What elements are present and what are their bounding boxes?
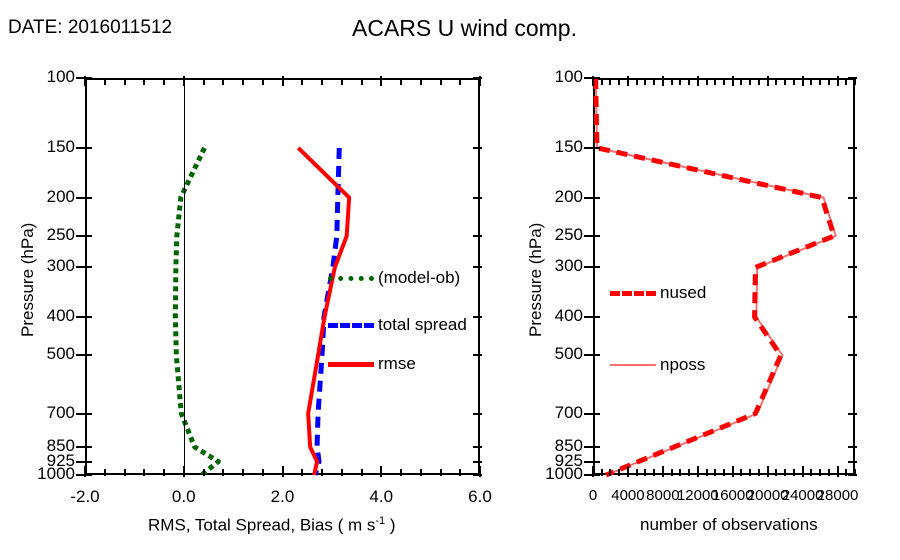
- left-xtick-minor-top: [242, 78, 244, 85]
- left-ytick-label: 700: [13, 403, 75, 423]
- left-xtick-minor: [361, 469, 363, 476]
- left-ytick-right: [473, 266, 482, 268]
- right-xtick-minor-top: [802, 78, 804, 85]
- left-xtick-label: -2.0: [59, 487, 111, 507]
- left-xtick-minor: [124, 469, 126, 476]
- right-xtick-minor-top: [723, 78, 725, 85]
- left-ytick-label: 200: [13, 187, 75, 207]
- right-xtick-minor-top: [732, 78, 734, 85]
- left-legend-swatch: [328, 362, 374, 367]
- left-xtick-label: 4.0: [355, 487, 407, 507]
- left-xtick-minor-top: [84, 78, 86, 85]
- left-legend-label: total spread: [378, 315, 467, 335]
- right-ytick-right: [848, 316, 857, 318]
- right-xtick-minor: [749, 469, 751, 476]
- right-ytick-label: 700: [521, 403, 583, 423]
- right-xtick-minor: [627, 469, 629, 476]
- right-xtick-minor: [732, 469, 734, 476]
- right-xtick-minor-top: [784, 78, 786, 85]
- left-xtick-minor-top: [341, 78, 343, 85]
- right-xtick-minor: [601, 469, 603, 476]
- right-xtick-minor-top: [749, 78, 751, 85]
- left-ytick-right: [473, 235, 482, 237]
- right-xtick-minor-top: [671, 78, 673, 85]
- right-ytick-inner: [593, 266, 600, 268]
- right-xtick-minor-top: [609, 78, 611, 85]
- right-xtick-minor-top: [662, 78, 664, 85]
- left-ytick: [76, 354, 85, 356]
- chart-page: DATE: 2016011512 ACARS U wind comp. Pres…: [0, 0, 900, 560]
- left-ytick-inner: [85, 197, 92, 199]
- right-xtick-minor-top: [697, 78, 699, 85]
- right-xtick-minor: [618, 469, 620, 476]
- left-xtick-minor-top: [361, 78, 363, 85]
- right-ytick-right: [848, 147, 857, 149]
- right-xtick-minor: [802, 469, 804, 476]
- right-ytick: [584, 266, 593, 268]
- right-xtick-minor-top: [828, 78, 830, 85]
- left-xtick-minor: [459, 469, 461, 476]
- left-xtick-minor: [440, 469, 442, 476]
- left-xtick-minor-top: [104, 78, 106, 85]
- left-legend-label: rmse: [378, 354, 416, 374]
- series-nposs: [596, 78, 836, 475]
- right-ytick-label: 250: [521, 225, 583, 245]
- right-xtick-minor-top: [618, 78, 620, 85]
- right-xtick-minor-top: [767, 78, 769, 85]
- left-xtick-minor-top: [143, 78, 145, 85]
- left-xtick-minor: [400, 469, 402, 476]
- right-xtick-minor-top: [758, 78, 760, 85]
- left-xtick-minor-top: [282, 78, 284, 85]
- left-ytick-right: [473, 446, 482, 448]
- right-xtick-minor-top: [810, 78, 812, 85]
- right-ytick: [584, 461, 593, 463]
- right-xtick-minor-top: [653, 78, 655, 85]
- left-zero-line: [184, 80, 185, 474]
- right-legend-item: nused: [610, 283, 706, 303]
- right-xtick-minor: [837, 469, 839, 476]
- right-ytick: [584, 446, 593, 448]
- right-ytick-inner: [593, 474, 600, 476]
- left-ytick: [76, 316, 85, 318]
- right-xtick-minor: [758, 469, 760, 476]
- left-xtick-minor: [341, 469, 343, 476]
- right-ytick-label: 1000: [521, 464, 583, 484]
- left-xtick-minor-top: [163, 78, 165, 85]
- right-ytick-right: [848, 197, 857, 199]
- right-legend-swatch: [610, 364, 656, 366]
- right-xtick-minor: [845, 469, 847, 476]
- right-xtick-minor: [688, 469, 690, 476]
- left-xtick-minor: [104, 469, 106, 476]
- right-ytick-inner: [593, 77, 600, 79]
- right-xtick-minor: [706, 469, 708, 476]
- right-xtick-minor: [653, 469, 655, 476]
- right-xtick-minor: [793, 469, 795, 476]
- right-ytick-inner: [593, 147, 600, 149]
- left-ytick-inner: [85, 266, 92, 268]
- right-xtick-minor: [723, 469, 725, 476]
- left-xtick-minor: [242, 469, 244, 476]
- right-ytick: [584, 413, 593, 415]
- right-ytick: [584, 197, 593, 199]
- right-xtick-minor-top: [644, 78, 646, 85]
- right-ytick: [584, 316, 593, 318]
- left-ytick: [76, 413, 85, 415]
- left-xtick-minor: [143, 469, 145, 476]
- right-ytick-inner: [593, 354, 600, 356]
- left-ytick-inner: [85, 461, 92, 463]
- right-xtick-minor-top: [706, 78, 708, 85]
- right-ytick: [584, 235, 593, 237]
- right-xtick-minor-top: [592, 78, 594, 85]
- right-xtick-minor-top: [636, 78, 638, 85]
- right-xtick-minor: [854, 469, 856, 476]
- left-xtick-minor: [282, 469, 284, 476]
- left-xtick-minor-top: [262, 78, 264, 85]
- left-ytick-label: 400: [13, 306, 75, 326]
- left-xtick-minor-top: [400, 78, 402, 85]
- left-legend-item: total spread: [328, 315, 467, 335]
- left-ytick-inner: [85, 316, 92, 318]
- right-xtick-minor-top: [819, 78, 821, 85]
- right-legend-label: nused: [660, 283, 706, 303]
- right-xtick-minor: [636, 469, 638, 476]
- right-legend-label: nposs: [660, 355, 705, 375]
- right-xtick-minor-top: [714, 78, 716, 85]
- series-nused: [596, 78, 834, 475]
- left-ytick-label: 250: [13, 225, 75, 245]
- left-ytick-inner: [85, 354, 92, 356]
- left-ytick-label: 300: [13, 256, 75, 276]
- right-xtick-minor-top: [688, 78, 690, 85]
- left-xtick-minor-top: [321, 78, 323, 85]
- left-ytick-right: [473, 197, 482, 199]
- right-xtick-minor: [697, 469, 699, 476]
- left-ytick-right: [473, 147, 482, 149]
- right-legend-item: nposs: [610, 355, 705, 375]
- right-xtick-minor-top: [837, 78, 839, 85]
- right-xtick-minor: [775, 469, 777, 476]
- left-xtick-minor-top: [420, 78, 422, 85]
- left-xtick-minor: [479, 469, 481, 476]
- left-ytick-right: [473, 413, 482, 415]
- right-ytick-right: [848, 446, 857, 448]
- left-ytick-inner: [85, 77, 92, 79]
- left-xtick-minor-top: [459, 78, 461, 85]
- right-ytick-label: 150: [521, 137, 583, 157]
- right-ytick-inner: [593, 461, 600, 463]
- right-ytick: [584, 354, 593, 356]
- left-ytick-inner: [85, 413, 92, 415]
- right-xtick-minor-top: [740, 78, 742, 85]
- left-legend-swatch: [328, 276, 374, 281]
- right-xtick-minor: [679, 469, 681, 476]
- right-ytick-label: 200: [521, 187, 583, 207]
- right-xtick-minor: [784, 469, 786, 476]
- left-xtick-minor: [222, 469, 224, 476]
- left-xtick-minor: [203, 469, 205, 476]
- right-legend-swatch: [610, 291, 656, 296]
- left-xtick-minor-top: [124, 78, 126, 85]
- right-xtick-minor: [714, 469, 716, 476]
- right-xtick-minor: [828, 469, 830, 476]
- left-ytick: [76, 147, 85, 149]
- left-legend-item: rmse: [328, 354, 416, 374]
- right-xtick-label: 28000: [812, 487, 864, 504]
- right-ytick-label: 100: [521, 67, 583, 87]
- left-xtick-minor-top: [479, 78, 481, 85]
- left-xtick-minor: [420, 469, 422, 476]
- right-ytick-label: 300: [521, 256, 583, 276]
- right-xtick-minor: [819, 469, 821, 476]
- left-ytick-inner: [85, 147, 92, 149]
- left-ytick-right: [473, 354, 482, 356]
- left-ytick-label: 100: [13, 67, 75, 87]
- right-ytick: [584, 147, 593, 149]
- left-xtick-minor: [163, 469, 165, 476]
- left-ytick-inner: [85, 474, 92, 476]
- right-xtick-minor: [644, 469, 646, 476]
- left-xtick-label: 0.0: [158, 487, 210, 507]
- left-ytick-label: 150: [13, 137, 75, 157]
- left-ytick: [76, 197, 85, 199]
- left-xtick-minor: [380, 469, 382, 476]
- right-xtick-minor-top: [679, 78, 681, 85]
- right-xtick-minor-top: [854, 78, 856, 85]
- right-xtick-minor: [740, 469, 742, 476]
- right-ytick-label: 500: [521, 344, 583, 364]
- right-ytick-inner: [593, 446, 600, 448]
- right-ytick-right: [848, 235, 857, 237]
- right-xtick-minor: [671, 469, 673, 476]
- left-xtick-minor-top: [380, 78, 382, 85]
- right-ytick-right: [848, 266, 857, 268]
- left-ytick-right: [473, 316, 482, 318]
- right-xtick-minor-top: [627, 78, 629, 85]
- left-ytick: [76, 446, 85, 448]
- left-ytick: [76, 461, 85, 463]
- right-ytick-inner: [593, 413, 600, 415]
- left-legend-label: (model-ob): [378, 268, 460, 288]
- right-ytick-right: [848, 461, 857, 463]
- left-ytick-right: [473, 461, 482, 463]
- left-ytick-inner: [85, 235, 92, 237]
- right-ytick-label: 400: [521, 306, 583, 326]
- right-xtick-minor: [810, 469, 812, 476]
- right-xtick-minor: [662, 469, 664, 476]
- right-xtick-minor-top: [601, 78, 603, 85]
- right-xtick-minor: [592, 469, 594, 476]
- left-xtick-minor-top: [222, 78, 224, 85]
- left-ytick-label: 500: [13, 344, 75, 364]
- right-ytick-right: [848, 413, 857, 415]
- left-xtick-minor: [301, 469, 303, 476]
- left-ytick-inner: [85, 446, 92, 448]
- left-ytick-label: 1000: [13, 464, 75, 484]
- left-ytick: [76, 235, 85, 237]
- right-ytick-inner: [593, 235, 600, 237]
- left-xtick-label: 2.0: [257, 487, 309, 507]
- left-xtick-minor-top: [203, 78, 205, 85]
- right-xtick-minor-top: [793, 78, 795, 85]
- left-legend-swatch: [328, 323, 374, 328]
- right-xtick-minor: [767, 469, 769, 476]
- left-xtick-minor-top: [301, 78, 303, 85]
- left-ytick: [76, 266, 85, 268]
- right-xtick-minor-top: [845, 78, 847, 85]
- right-xtick-minor: [609, 469, 611, 476]
- left-xtick-label: 6.0: [454, 487, 506, 507]
- left-xtick-minor: [262, 469, 264, 476]
- left-xtick-minor: [321, 469, 323, 476]
- left-xtick-minor: [84, 469, 86, 476]
- left-xtick-minor-top: [440, 78, 442, 85]
- right-ytick-inner: [593, 197, 600, 199]
- right-xtick-minor-top: [775, 78, 777, 85]
- right-ytick-inner: [593, 316, 600, 318]
- right-ytick-right: [848, 354, 857, 356]
- left-legend-item: (model-ob): [328, 268, 460, 288]
